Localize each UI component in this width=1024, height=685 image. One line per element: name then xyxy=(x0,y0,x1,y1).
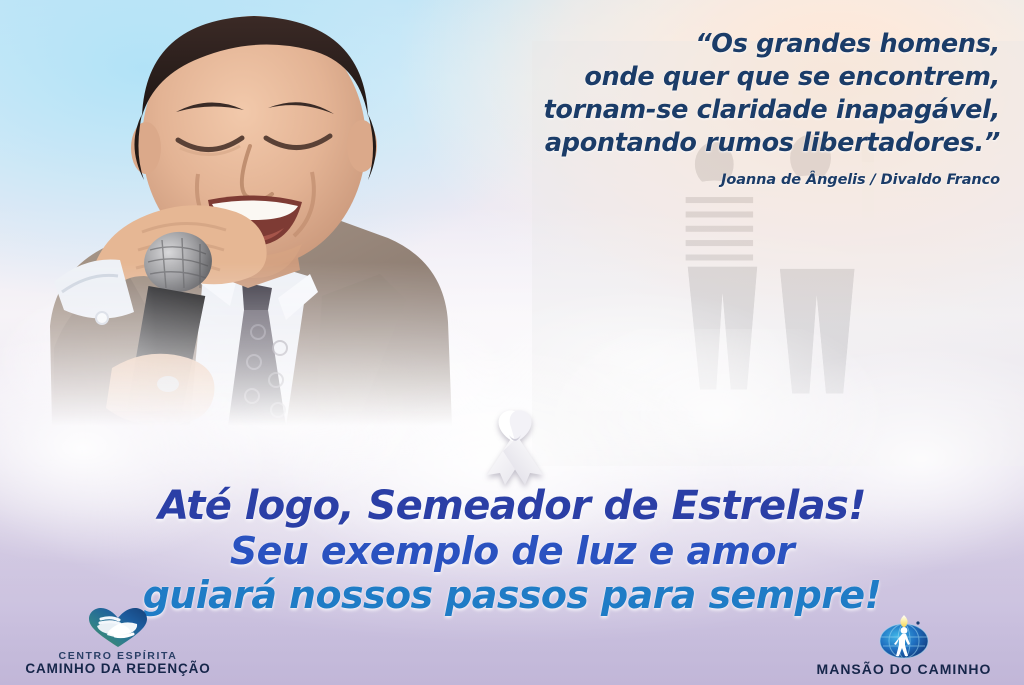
headline-block: Até logo, Semeador de Estrelas! Seu exem… xyxy=(0,486,1024,614)
memorial-poster: “Os grandes homens, onde quer que se enc… xyxy=(0,0,1024,685)
quote-line-2: onde quer que se encontrem, xyxy=(480,61,1000,94)
logo-left-line-2: CAMINHO DA REDENÇÃO xyxy=(25,662,210,677)
quote-line-1: “Os grandes homens, xyxy=(480,28,1000,61)
heart-hands-icon xyxy=(87,608,149,648)
quote-block: “Os grandes homens, onde quer que se enc… xyxy=(480,28,1000,188)
quote-author: Joanna de Ângelis / Divaldo Franco xyxy=(480,172,1000,188)
logo-centro-espirita-caminho-da-redencao: CENTRO ESPÍRITA CAMINHO DA REDENÇÃO xyxy=(18,608,218,677)
logo-right-line-1: MANSÃO DO CAMINHO xyxy=(817,662,992,677)
logo-mansao-do-caminho: MANSÃO DO CAMINHO xyxy=(798,615,1010,677)
quote-line-3: tornam-se claridade inapagável, xyxy=(480,94,1000,127)
logo-left-text: CENTRO ESPÍRITA CAMINHO DA REDENÇÃO xyxy=(25,651,210,677)
globe-figure-flame-icon xyxy=(877,615,931,659)
headline-line-1: Até logo, Semeador de Estrelas! xyxy=(0,486,1024,527)
portrait-smiling-man-with-microphone xyxy=(0,0,512,426)
logo-right-text: MANSÃO DO CAMINHO xyxy=(817,662,992,677)
white-awareness-ribbon-icon xyxy=(479,407,551,489)
quote-line-4: apontando rumos libertadores.” xyxy=(480,127,1000,160)
headline-line-2: Seu exemplo de luz e amor xyxy=(0,532,1024,571)
